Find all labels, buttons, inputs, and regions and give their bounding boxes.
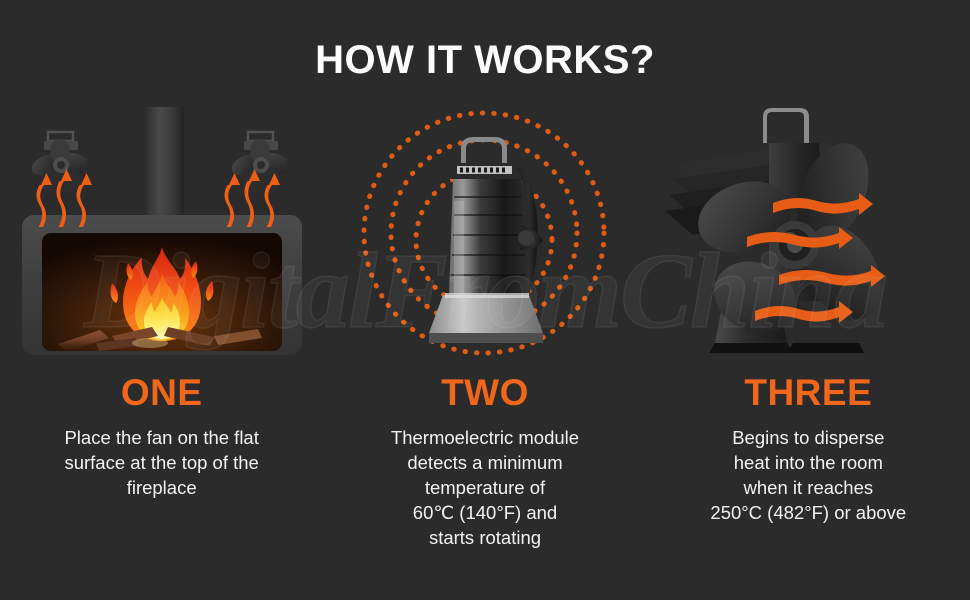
step-column-three: THREE Begins to disperse heat into the r… bbox=[647, 0, 970, 600]
fan-base bbox=[429, 295, 543, 333]
step-three-line-1: Begins to disperse bbox=[665, 425, 952, 450]
fan-hub-side bbox=[518, 230, 534, 246]
step-two-line-4: 60℃ (140°F) and bbox=[341, 500, 628, 525]
step-two-line-3: temperature of bbox=[341, 475, 628, 500]
stove-fan-side-illustration bbox=[323, 105, 646, 360]
step-three-line-2: heat into the room bbox=[665, 450, 952, 475]
fan-mid-highlight bbox=[454, 201, 464, 293]
step-three-line-4: 250°C (482°F) or above bbox=[665, 500, 952, 525]
step-one-line-3: fireplace bbox=[18, 475, 305, 500]
step-description-two: Thermoelectric module detects a minimum … bbox=[323, 425, 646, 550]
fan-base-front bbox=[429, 333, 543, 343]
step-column-one: ONE Place the fan on the flat surface at… bbox=[0, 0, 323, 600]
chimney bbox=[146, 107, 184, 215]
steps-container: ONE Place the fan on the flat surface at… bbox=[0, 0, 970, 600]
step-column-two: TWO Thermoelectric module detects a mini… bbox=[323, 0, 646, 600]
fan-handle bbox=[461, 137, 507, 167]
step-two-line-2: detects a minimum bbox=[341, 450, 628, 475]
fan-handle-three bbox=[763, 108, 809, 143]
fireplace-illustration bbox=[0, 105, 323, 360]
infographic-canvas: HOW IT WORKS? bbox=[0, 0, 970, 600]
step-description-three: Begins to disperse heat into the room wh… bbox=[647, 425, 970, 525]
step-two-line-5: starts rotating bbox=[341, 525, 628, 550]
step-number-three: THREE bbox=[647, 372, 970, 414]
step-three-line-3: when it reaches bbox=[665, 475, 952, 500]
step-description-one: Place the fan on the flat surface at the… bbox=[0, 425, 323, 500]
heat-arrows-left bbox=[37, 169, 93, 227]
step-one-line-1: Place the fan on the flat bbox=[18, 425, 305, 450]
step-two-line-1: Thermoelectric module bbox=[341, 425, 628, 450]
step-number-two: TWO bbox=[323, 372, 646, 414]
stove-fan-airflow-illustration bbox=[647, 105, 970, 360]
step-number-one: ONE bbox=[0, 372, 323, 414]
step-one-line-2: surface at the top of the bbox=[18, 450, 305, 475]
fan-base-plate-line bbox=[445, 293, 529, 298]
stove-fan-right bbox=[228, 132, 291, 196]
